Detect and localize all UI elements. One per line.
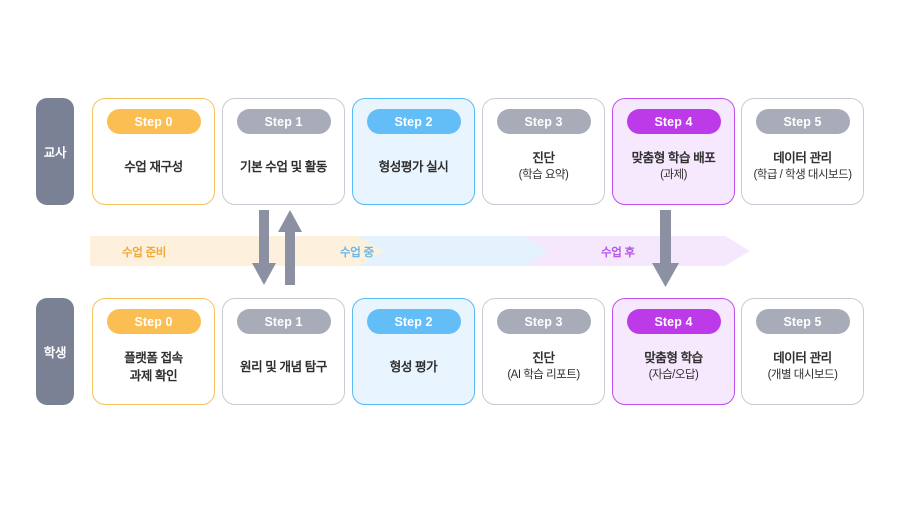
- student-card-step4[interactable]: Step 4 맞춤형 학습 (자습/오답): [612, 298, 735, 405]
- step-pill: Step 5: [756, 109, 850, 134]
- card-line2: (개별 대시보드): [768, 367, 838, 384]
- step-pill: Step 5: [756, 309, 850, 334]
- card-line1: 데이터 관리: [773, 349, 832, 367]
- role-label-student-text: 학생: [44, 342, 66, 361]
- teacher-card-step5[interactable]: Step 5 데이터 관리 (학급 / 학생 대시보드): [741, 98, 864, 205]
- arrow-step1-up: [278, 210, 302, 285]
- student-card-step2[interactable]: Step 2 형성 평가: [352, 298, 475, 405]
- card-line2: (과제): [660, 167, 687, 184]
- step-pill: Step 4: [627, 109, 721, 134]
- step-pill: Step 3: [497, 309, 591, 334]
- arrow-step1-down: [252, 210, 276, 285]
- role-label-student: 학생: [36, 298, 74, 405]
- teacher-card-step1[interactable]: Step 1 기본 수업 및 활동: [222, 98, 345, 205]
- step-pill: Step 2: [367, 309, 461, 334]
- card-body: 플랫폼 접속 과제 확인: [93, 334, 214, 404]
- step-pill: Step 3: [497, 109, 591, 134]
- card-body: 기본 수업 및 활동: [223, 134, 344, 204]
- student-card-step0[interactable]: Step 0 플랫폼 접속 과제 확인: [92, 298, 215, 405]
- card-body: 데이터 관리 (개별 대시보드): [742, 334, 863, 404]
- teacher-card-step0[interactable]: Step 0 수업 재구성: [92, 98, 215, 205]
- card-body: 맞춤형 학습 (자습/오답): [613, 334, 734, 404]
- student-card-step1[interactable]: Step 1 원리 및 개념 탐구: [222, 298, 345, 405]
- step-pill: Step 0: [107, 309, 201, 334]
- card-line1: 형성평가 실시: [379, 158, 449, 176]
- card-body: 진단 (AI 학습 리포트): [483, 334, 604, 404]
- step-pill: Step 4: [627, 309, 721, 334]
- card-line2: 과제 확인: [130, 367, 177, 386]
- role-label-teacher: 교사: [36, 98, 74, 205]
- step-pill: Step 0: [107, 109, 201, 134]
- card-body: 형성평가 실시: [353, 134, 474, 204]
- card-body: 데이터 관리 (학급 / 학생 대시보드): [742, 134, 863, 204]
- card-line1: 원리 및 개념 탐구: [240, 358, 327, 376]
- card-line1: 플랫폼 접속: [124, 349, 183, 367]
- card-line2: (AI 학습 리포트): [507, 367, 579, 384]
- teacher-card-step2[interactable]: Step 2 형성평가 실시: [352, 98, 475, 205]
- student-card-step5[interactable]: Step 5 데이터 관리 (개별 대시보드): [741, 298, 864, 405]
- arrow-step4-down: [652, 210, 679, 287]
- card-line1: 진단: [532, 149, 554, 167]
- card-line1: 맞춤형 학습 배포: [632, 149, 716, 167]
- diagram-canvas: 수업 준비 수업 중 수업 후 교사 학생 Step 0 수업 재구성 S: [0, 0, 900, 506]
- card-line1: 맞춤형 학습: [644, 349, 703, 367]
- card-line1: 진단: [532, 349, 554, 367]
- card-line1: 형성 평가: [390, 358, 437, 376]
- card-body: 진단 (학습 요약): [483, 134, 604, 204]
- teacher-card-step3[interactable]: Step 3 진단 (학습 요약): [482, 98, 605, 205]
- card-body: 맞춤형 학습 배포 (과제): [613, 134, 734, 204]
- card-line1: 수업 재구성: [124, 158, 183, 176]
- card-body: 형성 평가: [353, 334, 474, 404]
- role-label-teacher-text: 교사: [44, 142, 66, 161]
- step-pill: Step 1: [237, 309, 331, 334]
- card-line2: (자습/오답): [649, 367, 699, 384]
- card-body: 원리 및 개념 탐구: [223, 334, 344, 404]
- card-line1: 데이터 관리: [773, 149, 832, 167]
- teacher-card-step4[interactable]: Step 4 맞춤형 학습 배포 (과제): [612, 98, 735, 205]
- student-card-step3[interactable]: Step 3 진단 (AI 학습 리포트): [482, 298, 605, 405]
- step-pill: Step 1: [237, 109, 331, 134]
- card-line1: 기본 수업 및 활동: [240, 158, 327, 176]
- step-pill: Step 2: [367, 109, 461, 134]
- connector-arrows: [0, 0, 900, 506]
- card-body: 수업 재구성: [93, 134, 214, 204]
- card-line2: (학급 / 학생 대시보드): [753, 167, 851, 184]
- card-line2: (학습 요약): [519, 167, 569, 184]
